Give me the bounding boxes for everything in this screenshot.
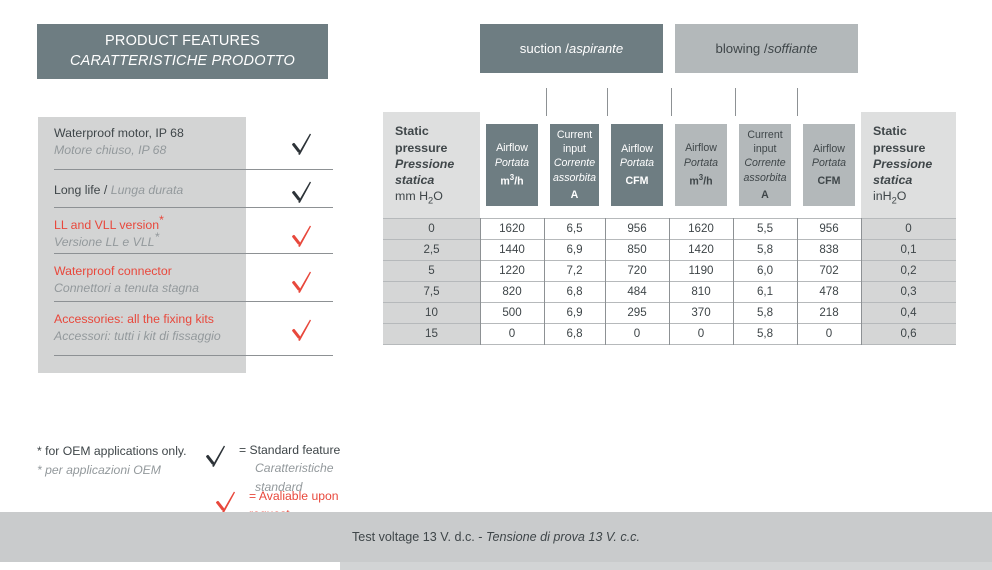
feature-divider xyxy=(54,207,333,208)
column-header-line: Current xyxy=(557,128,592,142)
table-cell: 1620 xyxy=(669,219,733,239)
checkmark-dark-icon xyxy=(205,440,239,476)
table-column-separator xyxy=(861,218,862,345)
table-cell: 6,5 xyxy=(544,219,605,239)
feature-divider xyxy=(54,301,333,302)
table-cell: 6,8 xyxy=(544,282,605,302)
table-cell: 6,1 xyxy=(733,282,797,302)
column-header-chip: CurrentinputCorrenteassorbitaA xyxy=(550,124,599,206)
footer-text-it: Tensione di prova 13 V. c.c. xyxy=(486,530,640,544)
feature-label-it: Connettori a tenuta stagna xyxy=(54,280,269,297)
feature-footnote-asterisk: * xyxy=(155,230,160,244)
table-column-separator xyxy=(480,218,481,345)
table-cell: 720 xyxy=(605,261,669,281)
table-cell: 6,0 xyxy=(733,261,797,281)
column-header: AirflowPortataCFM xyxy=(797,112,861,218)
table-cell: 0 xyxy=(383,219,480,239)
table-column-separator xyxy=(797,218,798,345)
legend-oem-note: * for OEM applications only. * per appli… xyxy=(37,442,207,480)
table-cell: 478 xyxy=(797,282,861,302)
column-header: CurrentinputCorrenteassorbitaA xyxy=(733,112,797,218)
table-cell: 5,8 xyxy=(733,240,797,260)
table-cell: 838 xyxy=(797,240,861,260)
column-header-line: Airflow xyxy=(685,141,717,155)
product-features-list: Waterproof motor, IP 68Motore chiuso, IP… xyxy=(38,117,333,373)
table-cell: 6,9 xyxy=(544,303,605,323)
column-header-unit: mm H2O xyxy=(395,188,480,207)
table-cell: 6,8 xyxy=(544,324,605,344)
feature-label: Long life / Lunga durata xyxy=(54,179,269,202)
table-column-separator xyxy=(733,218,734,345)
table-cell: 5,8 xyxy=(733,324,797,344)
column-header-unit: inH2O xyxy=(873,188,956,207)
table-cell: 702 xyxy=(797,261,861,281)
feature-label-en: Waterproof connector xyxy=(54,263,269,280)
checkmark-red-icon xyxy=(276,221,332,253)
column-header-unit: CFM xyxy=(818,174,841,188)
table-cell: 956 xyxy=(797,219,861,239)
feature-label-it: Lunga durata xyxy=(111,183,183,197)
feature-label-it: Versione LL e VLL* xyxy=(54,234,269,251)
checkmark-dark-icon xyxy=(276,129,332,161)
column-header-line-it: assorbita xyxy=(744,171,787,185)
suction-banner-it: aspirante xyxy=(569,41,623,56)
suction-banner-en: suction / xyxy=(520,41,569,56)
column-header-unit: CFM xyxy=(626,174,649,188)
table-cell: 1620 xyxy=(480,219,544,239)
column-header-chip: AirflowPortataCFM xyxy=(611,124,663,206)
feature-label-en: Accessories: all the fixing kits xyxy=(54,311,269,328)
table-cell: 7,5 xyxy=(383,282,480,302)
table-column-separator xyxy=(605,218,606,345)
legend-oem-note-en: * for OEM applications only. xyxy=(37,442,207,461)
table-cell: 484 xyxy=(605,282,669,302)
footer-text: Test voltage 13 V. d.c. - Tensione di pr… xyxy=(352,530,640,544)
column-header-line: pressure xyxy=(873,140,956,156)
column-header-line: input xyxy=(563,142,586,156)
table-cell: 5 xyxy=(383,261,480,281)
column-header: AirflowPortataCFM xyxy=(605,112,669,218)
column-header-line-it: assorbita xyxy=(553,171,596,185)
column-header-line-it: statica xyxy=(873,172,956,188)
column-header-unit: m3/h xyxy=(500,173,523,189)
table-cell: 810 xyxy=(669,282,733,302)
column-header-line-it: Portata xyxy=(812,156,846,170)
feature-label-en: LL and VLL version* xyxy=(54,217,269,234)
table-cell: 0 xyxy=(480,324,544,344)
column-header-line: pressure xyxy=(395,140,480,156)
suction-banner: suction / aspirante xyxy=(480,24,663,73)
checkmark-dark-icon xyxy=(276,177,332,209)
feature-label: Waterproof connectorConnettori a tenuta … xyxy=(54,263,269,298)
table-cell: 1440 xyxy=(480,240,544,260)
column-header-unit: m3/h xyxy=(689,173,712,189)
table-cell: 0,6 xyxy=(861,324,956,344)
table-column-separator xyxy=(669,218,670,345)
feature-footnote-asterisk: * xyxy=(159,213,164,227)
column-header-chip: AirflowPortataCFM xyxy=(803,124,855,206)
feature-label: Accessories: all the fixing kitsAccessor… xyxy=(54,311,269,346)
footer-text-en: Test voltage 13 V. d.c. - xyxy=(352,530,486,544)
checkmark-red-icon xyxy=(276,315,332,347)
table-cell: 0 xyxy=(605,324,669,344)
column-header: AirflowPortatam3/h xyxy=(669,112,733,218)
table-cell: 956 xyxy=(605,219,669,239)
column-header-unit: A xyxy=(571,188,579,202)
column-header-line-it: Pressione xyxy=(873,156,956,172)
column-header-line: input xyxy=(754,142,777,156)
table-cell: 1220 xyxy=(480,261,544,281)
column-header-chip: CurrentinputCorrenteassorbitaA xyxy=(739,124,791,206)
column-header-line-it: Corrente xyxy=(554,156,595,170)
table-cell: 1420 xyxy=(669,240,733,260)
table-cell: 500 xyxy=(480,303,544,323)
column-header-line-it: Portata xyxy=(495,156,529,170)
table-cell: 2,5 xyxy=(383,240,480,260)
legend-standard-feature-en: = Standard feature xyxy=(239,441,367,459)
table-cell: 370 xyxy=(669,303,733,323)
column-header-line-it: Pressione xyxy=(395,156,480,172)
footer-bottom-strip xyxy=(340,562,992,570)
table-cell: 0 xyxy=(861,219,956,239)
column-header: CurrentinputCorrenteassorbitaA xyxy=(544,112,605,218)
performance-table: StaticpressurePressionestaticamm H2OAirf… xyxy=(383,112,956,338)
table-cell: 0 xyxy=(797,324,861,344)
column-header-unit: A xyxy=(761,188,769,202)
table-cell: 15 xyxy=(383,324,480,344)
feature-label-en: Waterproof motor, IP 68 xyxy=(54,125,269,142)
table-cell: 1190 xyxy=(669,261,733,281)
table-cell: 218 xyxy=(797,303,861,323)
column-header-line: Airflow xyxy=(496,141,528,155)
feature-label-it: Motore chiuso, IP 68 xyxy=(54,142,269,159)
product-features-title: PRODUCT FEATURES CARATTERISTICHE PRODOTT… xyxy=(37,24,328,79)
table-cell: 10 xyxy=(383,303,480,323)
product-features-title-it: CARATTERISTICHE PRODOTTO xyxy=(70,52,295,71)
table-cell: 0,1 xyxy=(861,240,956,260)
table-cell: 850 xyxy=(605,240,669,260)
column-header-chip: AirflowPortatam3/h xyxy=(486,124,538,206)
table-column-separator xyxy=(544,218,545,345)
feature-divider xyxy=(54,355,333,356)
feature-divider xyxy=(54,169,333,170)
column-header-line: Static xyxy=(873,123,956,139)
column-header-line-it: Portata xyxy=(684,156,718,170)
table-cell: 0,4 xyxy=(861,303,956,323)
column-header-line-it: Portata xyxy=(620,156,654,170)
column-header-line: Airflow xyxy=(813,142,845,156)
legend: * for OEM applications only. * per appli… xyxy=(37,440,367,518)
column-header: StaticpressurePressionestaticainH2O xyxy=(861,112,956,218)
table-cell: 0 xyxy=(669,324,733,344)
legend-oem-note-it: * per applicazioni OEM xyxy=(37,461,207,480)
table-cell: 295 xyxy=(605,303,669,323)
column-header-line: Current xyxy=(747,128,782,142)
feature-label: LL and VLL version*Versione LL e VLL* xyxy=(54,217,269,252)
table-cell: 7,2 xyxy=(544,261,605,281)
blowing-banner: blowing / soffiante xyxy=(675,24,858,73)
table-cell: 6,9 xyxy=(544,240,605,260)
table-cell: 0,2 xyxy=(861,261,956,281)
column-header-line: Airflow xyxy=(621,142,653,156)
column-header-line-it: Corrente xyxy=(744,156,785,170)
table-cell: 820 xyxy=(480,282,544,302)
feature-label-en: Long life / xyxy=(54,183,111,197)
checkmark-red-icon xyxy=(276,267,332,299)
table-cell: 5,5 xyxy=(733,219,797,239)
column-header: AirflowPortatam3/h xyxy=(480,112,544,218)
performance-table-header-row: StaticpressurePressionestaticamm H2OAirf… xyxy=(383,112,956,218)
footer-bar: Test voltage 13 V. d.c. - Tensione di pr… xyxy=(0,512,992,562)
feature-label-it: Accessori: tutti i kit di fissaggio xyxy=(54,328,269,345)
table-cell: 0,3 xyxy=(861,282,956,302)
blowing-banner-en: blowing / xyxy=(716,41,768,56)
column-header-chip: AirflowPortatam3/h xyxy=(675,124,727,206)
table-cell: 5,8 xyxy=(733,303,797,323)
feature-label: Waterproof motor, IP 68Motore chiuso, IP… xyxy=(54,125,269,160)
column-header-line-it: statica xyxy=(395,172,480,188)
column-header: StaticpressurePressionestaticamm H2O xyxy=(383,112,480,218)
product-features-title-en: PRODUCT FEATURES xyxy=(105,32,260,51)
blowing-banner-it: soffiante xyxy=(768,41,818,56)
column-header-line: Static xyxy=(395,123,480,139)
feature-divider xyxy=(54,253,333,254)
